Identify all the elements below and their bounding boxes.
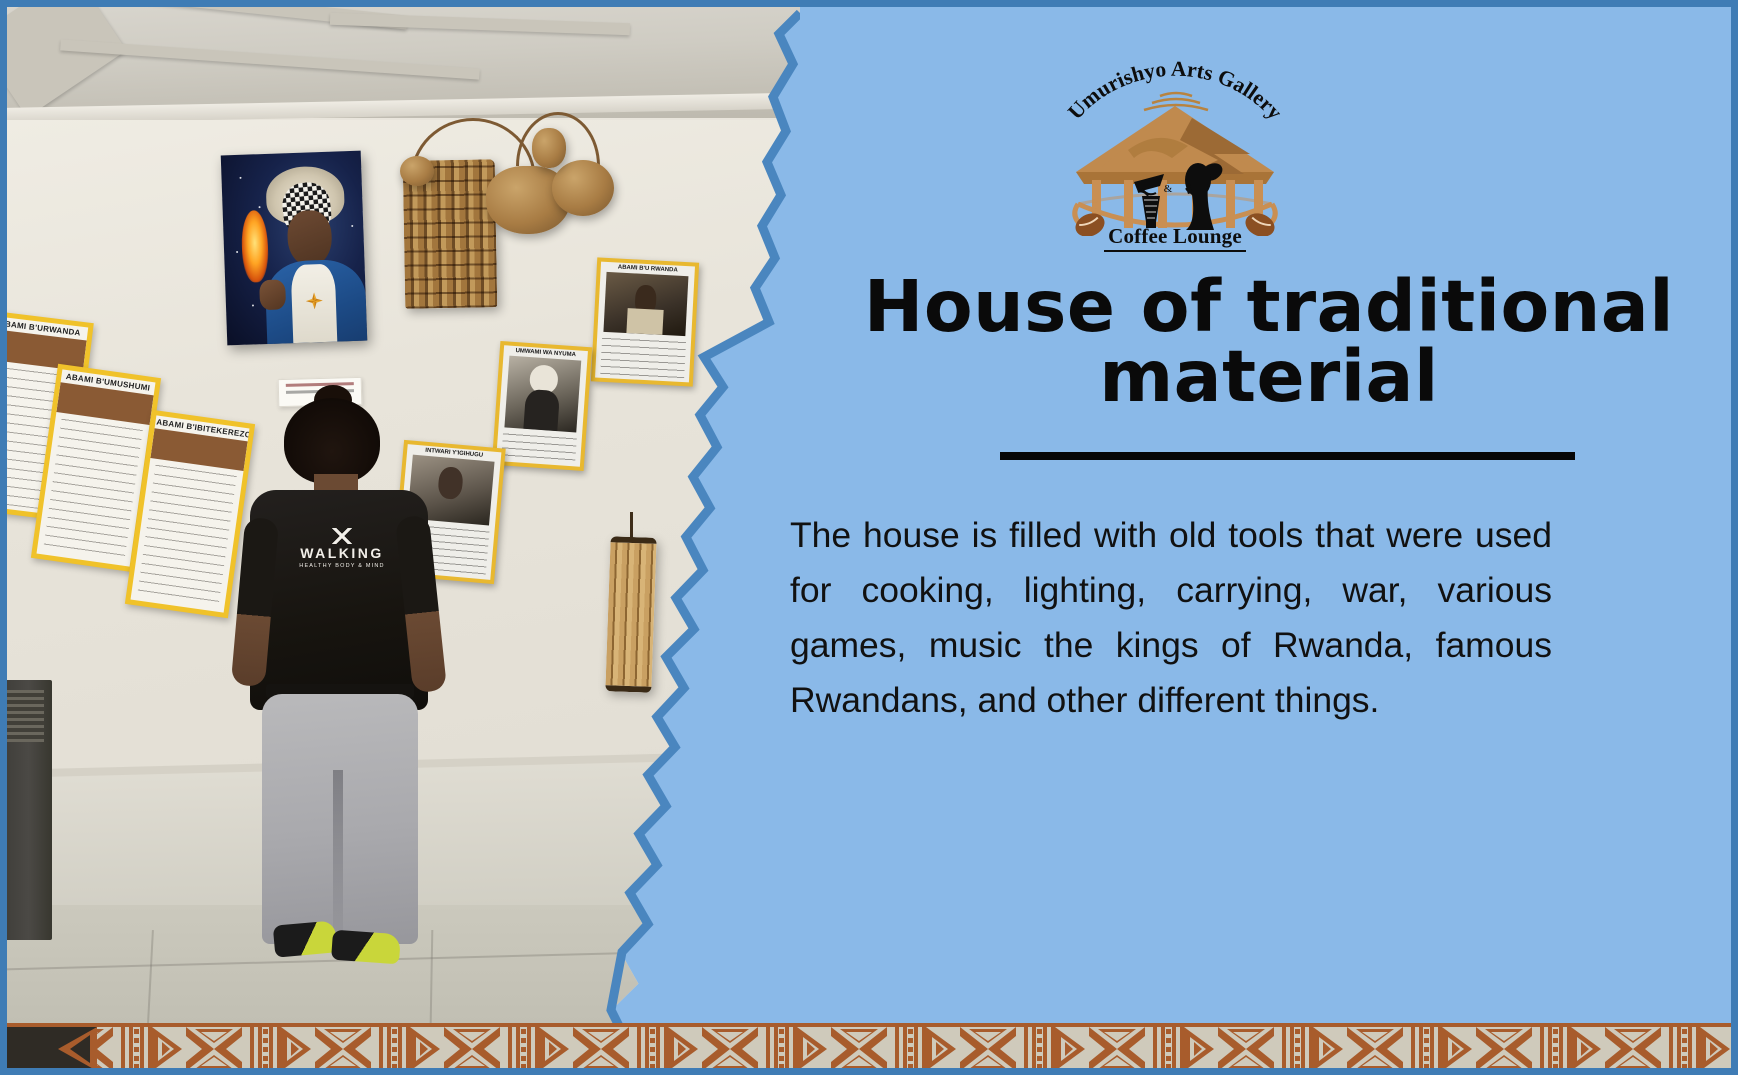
imigongo-pattern-band: [0, 1023, 1738, 1075]
logo-hut-icon: &: [1068, 88, 1282, 236]
title-underline: [1000, 452, 1575, 460]
coffee-lounge-text: Coffee Lounge: [1104, 224, 1246, 252]
wooden-gourd-vessel: [532, 128, 566, 168]
board-body: [137, 461, 237, 608]
museum-photograph: ABAMI B'URWANDA ABAMI B'UMUSHUMI ABAMI B…: [0, 0, 800, 1075]
storage-cabinet: [0, 680, 52, 940]
portrait-photo: [603, 272, 688, 337]
portrait-caption: [501, 430, 577, 463]
logo-bottom-label: Coffee Lounge: [1050, 224, 1300, 252]
framed-portrait: ABAMI B'U RWANDA: [591, 257, 699, 386]
painting-king-with-torch: [221, 151, 368, 346]
framed-portrait: UMWAMI WA NYUMA: [492, 341, 592, 471]
shirt-brand: WALKING: [282, 546, 402, 560]
cabinet-vent: [0, 690, 44, 742]
gallery-logo: Umurishyo Arts Gallery: [1050, 38, 1300, 248]
portrait-caption: [600, 335, 686, 379]
painting-hand: [259, 279, 286, 310]
page-title: House of traditional material: [780, 272, 1738, 413]
description-paragraph: The house is filled with old tools that …: [790, 508, 1552, 728]
shirt-tagline: HEALTHY BODY & MIND: [282, 563, 402, 569]
wooden-gourd-vessel: [552, 160, 614, 216]
wooden-drum-umuduri: [605, 536, 656, 693]
left-shoe: [273, 920, 338, 957]
note-line: [286, 382, 354, 387]
board-body: [43, 415, 143, 562]
painting-face: [287, 210, 333, 268]
painting-torch-flame: [241, 210, 269, 283]
museum-visitor: WALKING HEALTHY BODY & MIND: [238, 398, 448, 958]
title-line-2: material: [780, 342, 1738, 412]
bag-gourd-knob: [400, 156, 434, 186]
mountain-icon: [319, 528, 365, 544]
portrait-photo: [504, 356, 581, 433]
poster-canvas: ABAMI B'URWANDA ABAMI B'UMUSHUMI ABAMI B…: [0, 0, 1738, 1075]
leg-separation: [333, 770, 343, 946]
t-shirt-print: WALKING HEALTHY BODY & MIND: [282, 528, 402, 582]
logo-ampersand: &: [1164, 183, 1173, 195]
info-panel: Umurishyo Arts Gallery: [800, 0, 1738, 1075]
right-shoe: [331, 930, 401, 965]
hair: [284, 398, 380, 484]
